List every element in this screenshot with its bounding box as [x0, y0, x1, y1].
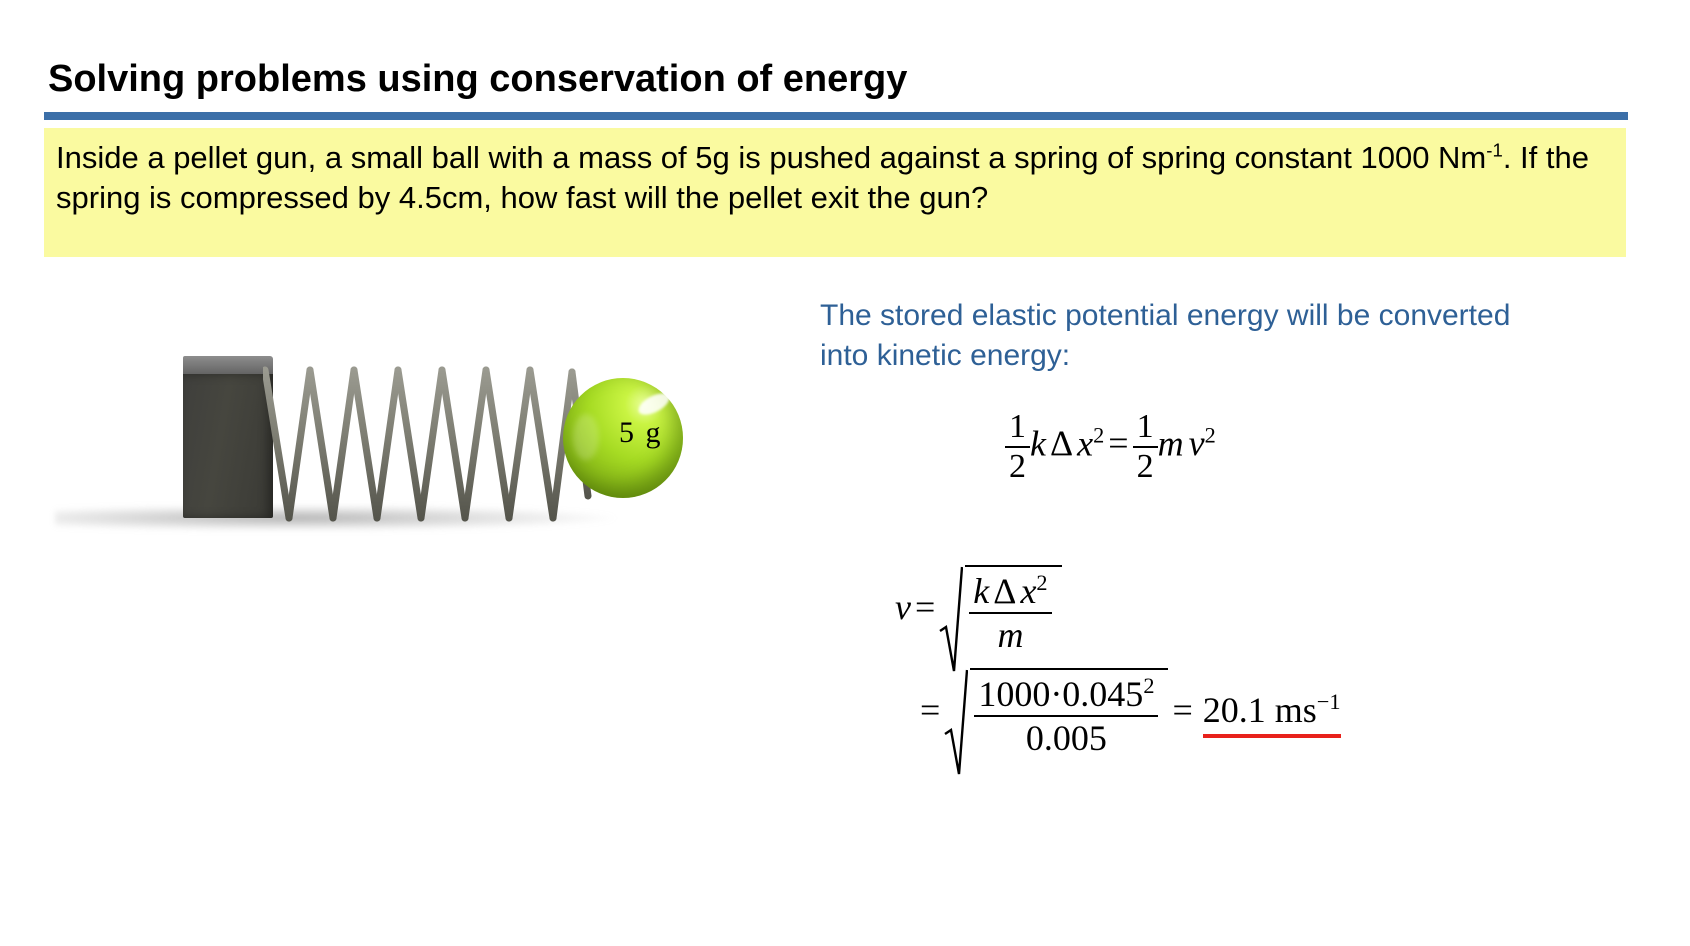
equation-velocity-numeric: = 1000·0.0452 0.005 =20.1 ms−1: [920, 668, 1341, 759]
eq1-rhs-numerator: 1: [1133, 408, 1158, 446]
eq1-k: k: [1030, 423, 1046, 463]
eq1-v-exponent: 2: [1205, 422, 1216, 447]
eq1-v: v: [1189, 423, 1205, 463]
eq2-equals: =: [915, 587, 935, 627]
eq2-fraction: kΔx2 m: [969, 570, 1051, 656]
eq2-x: x: [1020, 571, 1036, 611]
eq2-x-exponent: 2: [1036, 570, 1047, 595]
eq2-radicand: kΔx2 m: [965, 565, 1061, 656]
square-root-icon: [944, 668, 968, 778]
ball-rim-highlight: [573, 414, 599, 460]
explanation-text: The stored elastic potential energy will…: [820, 296, 1520, 376]
answer-exponent: −1: [1317, 689, 1341, 714]
eq2-delta: Δ: [993, 571, 1016, 611]
eq2-denominator: m: [969, 612, 1051, 656]
answer-value: 20.1 ms: [1203, 690, 1317, 730]
eq1-m: m: [1158, 423, 1184, 463]
eq1-delta: Δ: [1050, 423, 1073, 463]
eq1-x: x: [1077, 423, 1093, 463]
square-root-icon: [939, 565, 963, 675]
question-superscript: -1: [1486, 140, 1503, 161]
eq3-radical: 1000·0.0452 0.005: [944, 668, 1168, 759]
ball-specular-highlight: [635, 389, 673, 419]
eq1-lhs-numerator: 1: [1005, 408, 1030, 446]
eq3-numerator-value: 1000·0.045: [978, 674, 1143, 714]
eq3-numerator: 1000·0.0452: [974, 673, 1158, 715]
eq1-x-exponent: 2: [1093, 422, 1104, 447]
question-banner: Inside a pellet gun, a small ball with a…: [44, 128, 1626, 257]
eq3-fraction: 1000·0.0452 0.005: [974, 673, 1158, 759]
pellet-ball: 5 g: [563, 378, 683, 498]
final-answer: 20.1 ms−1: [1203, 689, 1341, 738]
compression-spring: [263, 366, 593, 526]
eq3-numerator-exponent: 2: [1143, 673, 1154, 698]
eq1-rhs-denominator: 2: [1133, 446, 1158, 486]
title-divider: [44, 112, 1628, 120]
eq3-equals-1: =: [920, 690, 940, 730]
eq2-numerator: kΔx2: [969, 570, 1051, 612]
page-title: Solving problems using conservation of e…: [48, 58, 907, 101]
eq1-lhs-denominator: 2: [1005, 446, 1030, 486]
eq2-k: k: [973, 571, 989, 611]
eq2-v: v: [895, 587, 911, 627]
eq1-lhs-fraction: 1 2: [1005, 408, 1030, 486]
equation-velocity-symbolic: v= kΔx2 m: [895, 565, 1062, 656]
equation-energy-balance: 1 2 kΔx2= 1 2 mv2: [1005, 408, 1216, 486]
ball-mass-label: 5 g: [619, 416, 663, 450]
eq2-radical: kΔx2 m: [939, 565, 1061, 656]
eq3-equals-2: =: [1172, 690, 1192, 730]
question-text-part1: Inside a pellet gun, a small ball with a…: [56, 140, 1486, 175]
question-text: Inside a pellet gun, a small ball with a…: [56, 138, 1612, 218]
eq1-rhs-fraction: 1 2: [1133, 408, 1158, 486]
eq1-equals: =: [1108, 423, 1128, 463]
eq3-denominator: 0.005: [974, 715, 1158, 759]
eq3-radicand: 1000·0.0452 0.005: [970, 668, 1168, 759]
wall-block: [183, 374, 273, 518]
spring-pellet-illustration: 5 g: [55, 330, 715, 580]
